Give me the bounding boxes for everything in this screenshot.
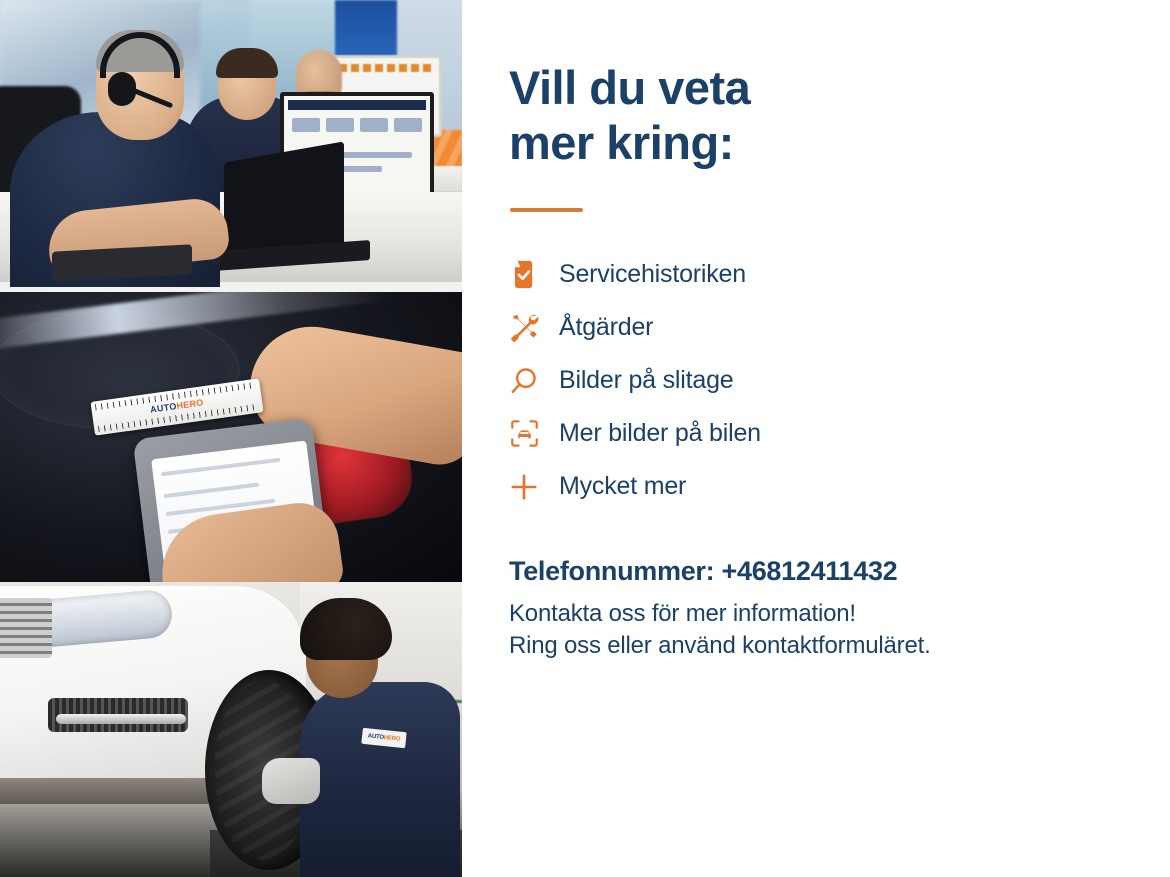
page-title-line-2: mer kring: bbox=[509, 116, 734, 169]
list-item-label: Servicehistoriken bbox=[559, 260, 746, 289]
title-underline-rule bbox=[510, 208, 583, 212]
magnifier-icon bbox=[508, 364, 540, 398]
list-item-label: Mycket mer bbox=[559, 472, 686, 501]
phone-number-line[interactable]: Telefonnummer: +46812411432 bbox=[509, 556, 1069, 587]
list-item: Bilder på slitage bbox=[508, 354, 938, 407]
list-item: Mer bilder på bilen bbox=[508, 407, 938, 460]
tools-wrench-screwdriver-icon bbox=[508, 311, 540, 345]
page-title: Vill du veta mer kring: bbox=[509, 60, 809, 171]
feature-list: Servicehistoriken Åtgärder bbox=[508, 248, 938, 513]
mechanic-body bbox=[300, 682, 460, 877]
list-item: Mycket mer bbox=[508, 460, 938, 513]
promo-page: AUTOHERO bbox=[0, 0, 1170, 877]
plus-icon bbox=[508, 470, 540, 504]
vehicle-lift-arm bbox=[0, 778, 230, 804]
chrome-trim bbox=[56, 714, 186, 724]
workshop-tire-photo: AUTOHERO bbox=[0, 582, 462, 877]
contact-line-2: Ring oss eller använd kontaktformuläret. bbox=[509, 632, 931, 659]
car-inspection-ruler-photo: AUTOHERO bbox=[0, 292, 462, 582]
car-grille bbox=[0, 598, 52, 658]
page-title-line-1: Vill du veta bbox=[509, 61, 750, 114]
call-center-agents-photo bbox=[0, 0, 462, 292]
list-item: Åtgärder bbox=[508, 301, 938, 354]
content-panel: Vill du veta mer kring: Servicehistorike… bbox=[462, 0, 1170, 877]
list-item-label: Mer bilder på bilen bbox=[559, 419, 761, 448]
mechanic-hair bbox=[300, 598, 392, 660]
photo-column: AUTOHERO bbox=[0, 0, 462, 877]
contact-block: Telefonnummer: +46812411432 Kontakta oss… bbox=[509, 556, 1069, 662]
contact-instructions: Kontakta oss för mer information! Ring o… bbox=[509, 598, 1069, 662]
mechanic-glove bbox=[262, 758, 320, 804]
list-item-label: Åtgärder bbox=[559, 313, 653, 342]
contact-line-1: Kontakta oss för mer information! bbox=[509, 600, 856, 627]
list-item: Servicehistoriken bbox=[508, 248, 938, 301]
document-check-icon bbox=[508, 258, 540, 292]
list-item-label: Bilder på slitage bbox=[559, 366, 733, 395]
car-scan-icon bbox=[508, 417, 540, 451]
